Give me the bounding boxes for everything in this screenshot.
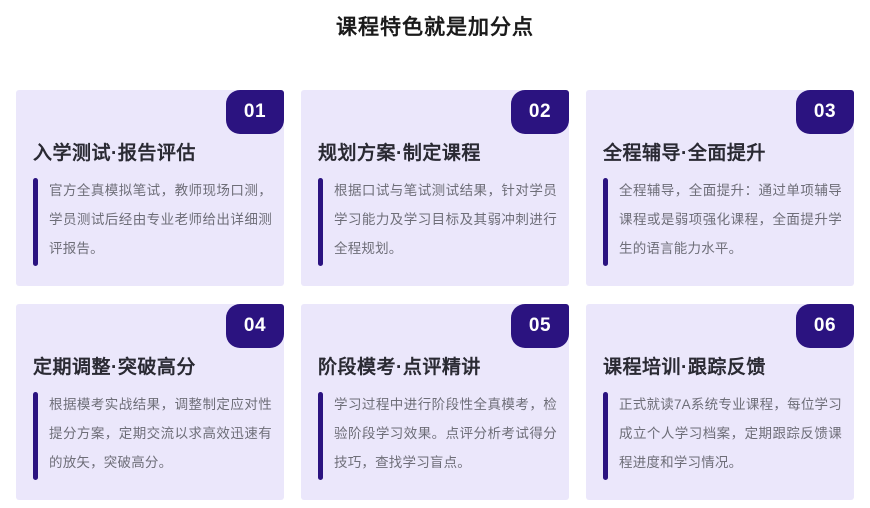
card-description: 正式就读7A系统专业课程，每位学习成立个人学习档案，定期跟踪反馈课程进度和学习情… — [619, 390, 842, 477]
card-number-badge: 04 — [226, 304, 284, 348]
card-description-wrap: 官方全真模拟笔试，教师现场口测，学员测试后经由专业老师给出详细测评报告。 — [33, 176, 272, 266]
accent-bar-icon — [318, 392, 323, 480]
accent-bar-icon — [318, 178, 323, 266]
card-heading: 全程辅导·全面提升 — [603, 138, 766, 165]
card-description: 全程辅导，全面提升：通过单项辅导课程或是弱项强化课程，全面提升学生的语言能力水平… — [619, 176, 842, 263]
feature-card-04[interactable]: 04 定期调整·突破高分 根据模考实战结果，调整制定应对性提分方案，定期交流以求… — [16, 304, 284, 500]
card-heading: 定期调整·突破高分 — [33, 352, 196, 379]
card-number-badge: 05 — [511, 304, 569, 348]
card-heading: 课程培训·跟踪反馈 — [603, 352, 766, 379]
feature-card-01[interactable]: 01 入学测试·报告评估 官方全真模拟笔试，教师现场口测，学员测试后经由专业老师… — [16, 90, 284, 286]
accent-bar-icon — [603, 392, 608, 480]
card-description: 根据模考实战结果，调整制定应对性提分方案，定期交流以求高效迅速有的放矢，突破高分… — [49, 390, 272, 477]
card-description-wrap: 根据模考实战结果，调整制定应对性提分方案，定期交流以求高效迅速有的放矢，突破高分… — [33, 390, 272, 480]
card-description-wrap: 根据口试与笔试测试结果，针对学员学习能力及学习目标及其弱冲刺进行全程规划。 — [318, 176, 557, 266]
card-description: 官方全真模拟笔试，教师现场口测，学员测试后经由专业老师给出详细测评报告。 — [49, 176, 272, 263]
card-heading: 入学测试·报告评估 — [33, 138, 196, 165]
accent-bar-icon — [33, 392, 38, 480]
card-description-wrap: 全程辅导，全面提升：通过单项辅导课程或是弱项强化课程，全面提升学生的语言能力水平… — [603, 176, 842, 266]
card-description: 学习过程中进行阶段性全真模考，检验阶段学习效果。点评分析考试得分技巧，查找学习盲… — [334, 390, 557, 477]
card-description-wrap: 学习过程中进行阶段性全真模考，检验阶段学习效果。点评分析考试得分技巧，查找学习盲… — [318, 390, 557, 480]
card-number-badge: 03 — [796, 90, 854, 134]
card-number-badge: 01 — [226, 90, 284, 134]
feature-section: 课程特色就是加分点 01 入学测试·报告评估 官方全真模拟笔试，教师现场口测，学… — [0, 0, 870, 508]
page-title: 课程特色就是加分点 — [0, 0, 870, 42]
accent-bar-icon — [33, 178, 38, 266]
feature-card-02[interactable]: 02 规划方案·制定课程 根据口试与笔试测试结果，针对学员学习能力及学习目标及其… — [301, 90, 569, 286]
card-heading: 阶段模考·点评精讲 — [318, 352, 481, 379]
card-description-wrap: 正式就读7A系统专业课程，每位学习成立个人学习档案，定期跟踪反馈课程进度和学习情… — [603, 390, 842, 480]
feature-card-03[interactable]: 03 全程辅导·全面提升 全程辅导，全面提升：通过单项辅导课程或是弱项强化课程，… — [586, 90, 854, 286]
card-heading: 规划方案·制定课程 — [318, 138, 481, 165]
card-number-badge: 02 — [511, 90, 569, 134]
feature-card-grid: 01 入学测试·报告评估 官方全真模拟笔试，教师现场口测，学员测试后经由专业老师… — [16, 90, 854, 500]
card-number-badge: 06 — [796, 304, 854, 348]
accent-bar-icon — [603, 178, 608, 266]
feature-card-06[interactable]: 06 课程培训·跟踪反馈 正式就读7A系统专业课程，每位学习成立个人学习档案，定… — [586, 304, 854, 500]
feature-card-05[interactable]: 05 阶段模考·点评精讲 学习过程中进行阶段性全真模考，检验阶段学习效果。点评分… — [301, 304, 569, 500]
card-description: 根据口试与笔试测试结果，针对学员学习能力及学习目标及其弱冲刺进行全程规划。 — [334, 176, 557, 263]
